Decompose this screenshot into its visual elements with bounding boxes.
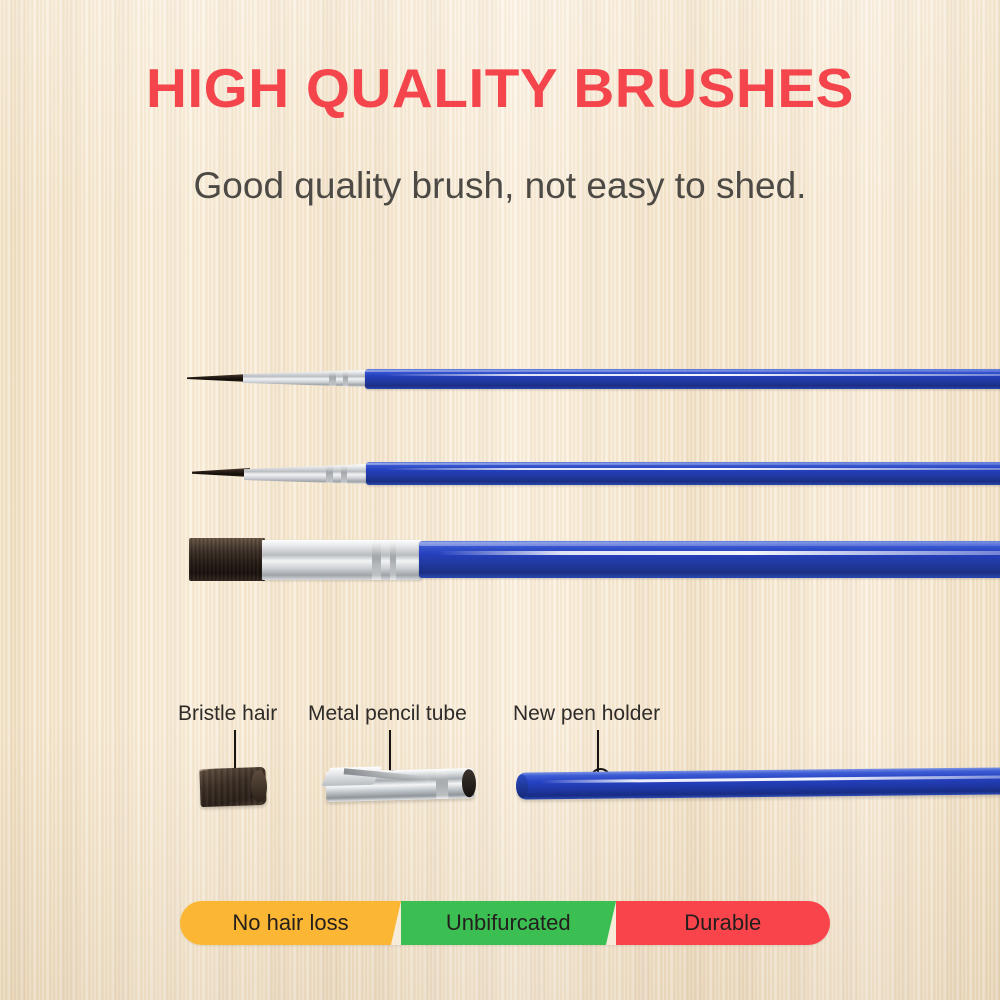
feature-badge-no-hair-loss[interactable]: No hair loss (180, 901, 401, 945)
bristle-tip-icon (187, 374, 249, 382)
ferrule (243, 370, 368, 387)
page-subtitle: Good quality brush, not easy to shed. (0, 163, 1000, 209)
callout-label-new-pen-holder: New pen holder (513, 701, 660, 727)
ferrule (262, 540, 422, 580)
callout-label-bristle-hair: Bristle hair (178, 701, 277, 727)
handle (365, 369, 1000, 389)
part-bristle-chunk (199, 767, 266, 807)
bristle-tip-icon (189, 538, 265, 581)
callout-label-metal-pencil-tube: Metal pencil tube (308, 701, 467, 727)
feature-badge-bar: No hair loss Unbifurcated Durable (180, 901, 830, 945)
ferrule (244, 464, 369, 484)
infographic-canvas: HIGH QUALITY BRUSHES Good quality brush,… (0, 0, 1000, 1000)
part-metal-tube (326, 768, 475, 802)
feature-badge-durable[interactable]: Durable (616, 901, 831, 945)
feature-badge-label: Durable (684, 910, 761, 936)
feature-badge-unbifurcated[interactable]: Unbifurcated (401, 901, 616, 945)
feature-badge-label: Unbifurcated (446, 910, 571, 936)
page-title: HIGH QUALITY BRUSHES (0, 57, 1000, 119)
part-pen-holder-rod (517, 767, 1000, 799)
feature-badge-label: No hair loss (232, 910, 348, 936)
handle (366, 462, 1000, 485)
bristle-tip-icon (192, 468, 250, 477)
handle (419, 541, 1000, 578)
